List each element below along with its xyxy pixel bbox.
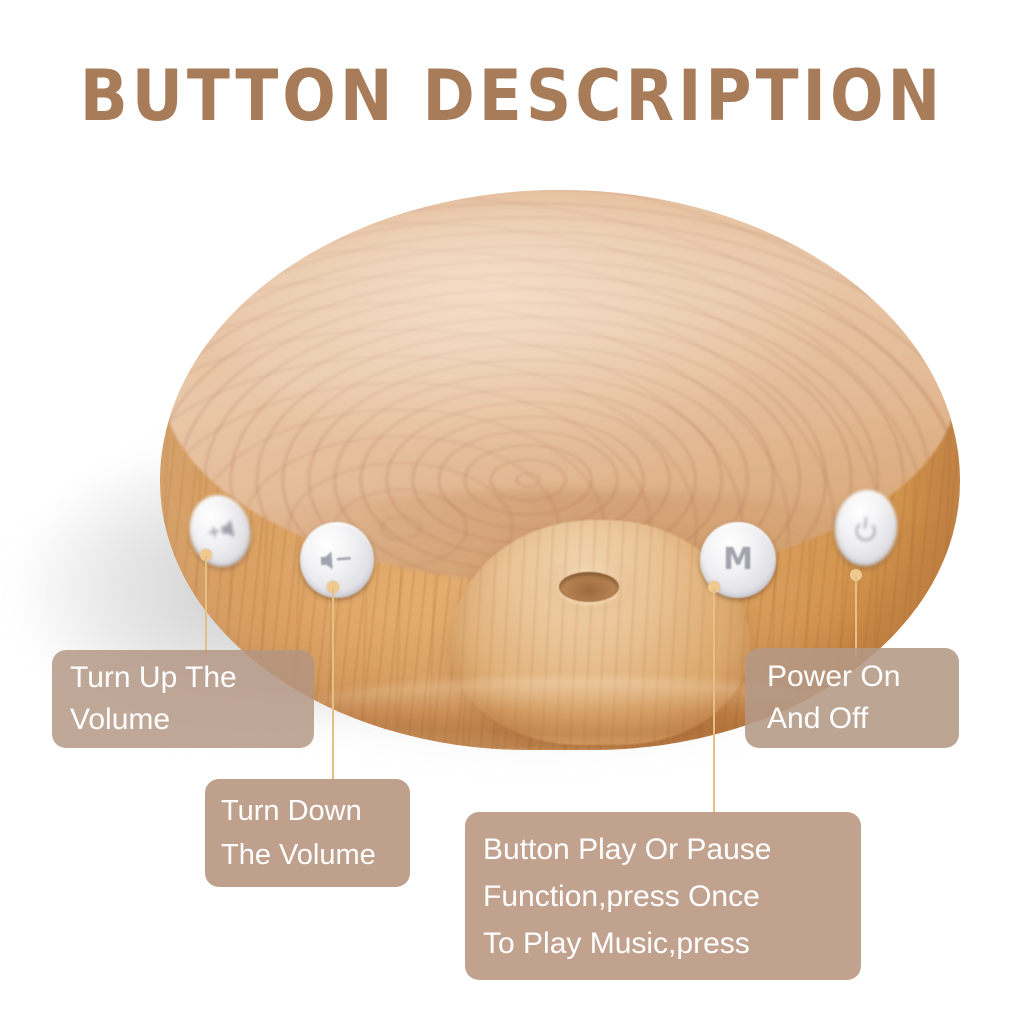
letter-m-icon: M	[723, 545, 753, 575]
callout-volume-up-line-2: Volume	[70, 699, 296, 741]
callout-play-pause-line-2: Function,press Once	[483, 873, 843, 920]
callout-volume-up-line-1: Turn Up The	[70, 657, 296, 699]
power-icon	[854, 516, 878, 540]
callout-volume-down-line-2: The Volume	[221, 833, 394, 877]
callout-power-line-1: Power On	[767, 656, 937, 698]
page-title: BUTTON DESCRIPTION	[0, 55, 1024, 137]
callout-power: Power On And Off	[745, 648, 959, 748]
callout-play-pause: Button Play Or Pause Function,press Once…	[465, 812, 861, 980]
mist-outlet-port	[559, 572, 619, 602]
speaker-plus-icon: +	[205, 519, 234, 542]
callout-volume-down: Turn Down The Volume	[205, 779, 410, 887]
mode-play-pause-button[interactable]: M	[700, 522, 776, 598]
infographic-page: BUTTON DESCRIPTION + −	[0, 0, 1024, 1024]
callout-play-pause-line-1: Button Play Or Pause	[483, 826, 843, 873]
callout-play-pause-line-3: To Play Music,press	[483, 920, 843, 967]
speaker-minus-icon: −	[320, 548, 354, 572]
callout-volume-up: Turn Up The Volume	[52, 650, 314, 748]
callout-power-line-2: And Off	[767, 698, 937, 740]
callout-volume-down-line-1: Turn Down	[221, 789, 394, 833]
